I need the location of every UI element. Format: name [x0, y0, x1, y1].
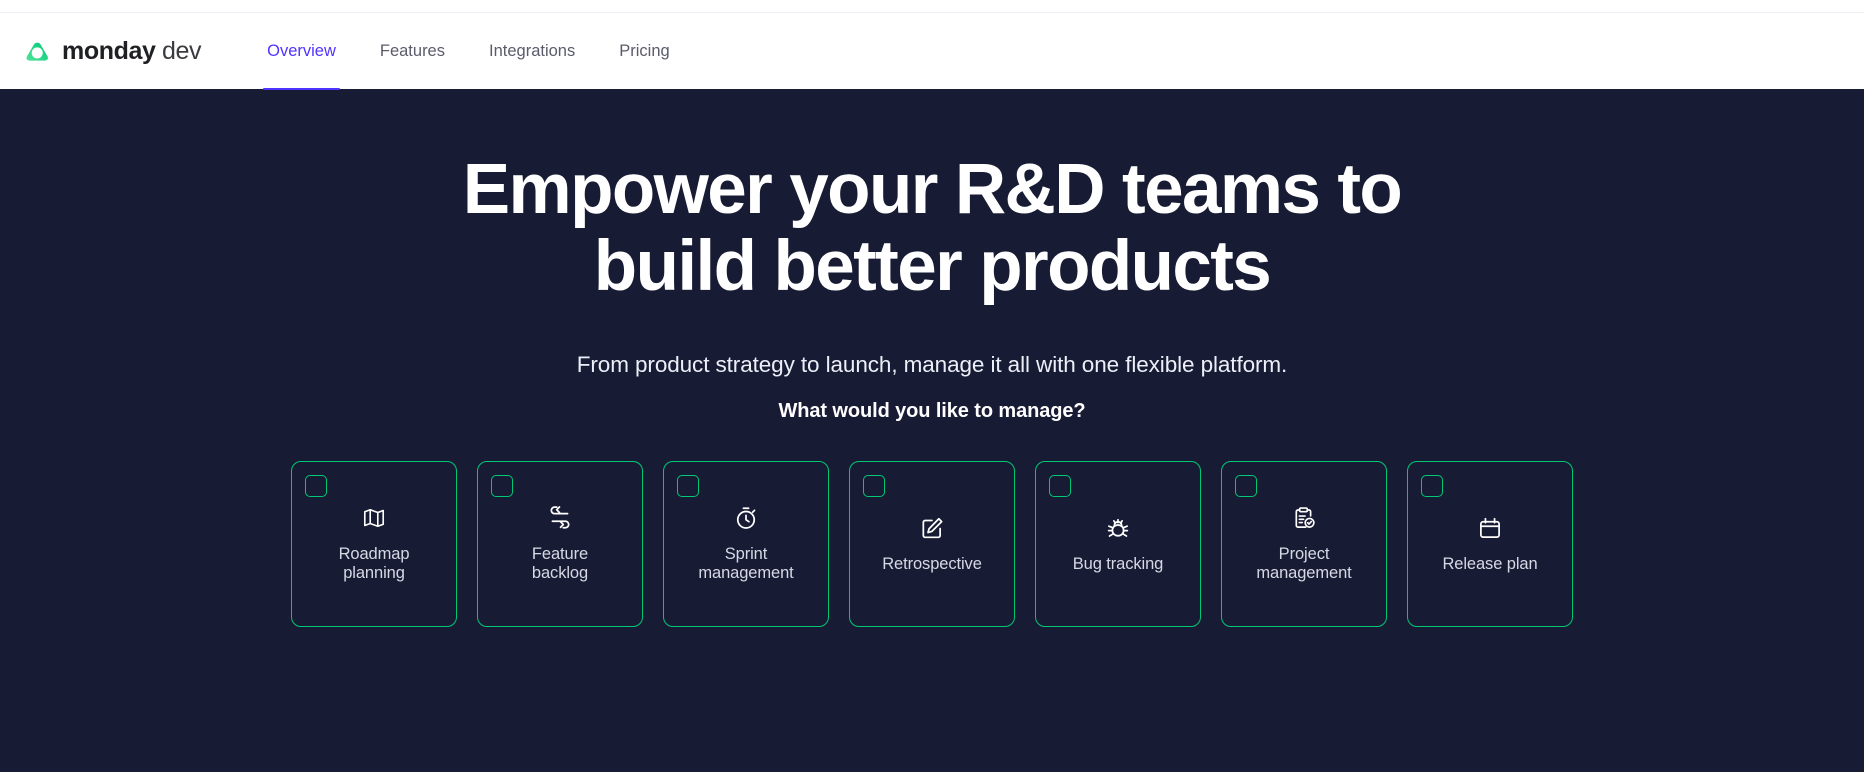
card-label: Retrospective — [882, 555, 982, 574]
bug-icon — [1105, 515, 1131, 541]
map-icon — [361, 505, 387, 531]
card-label: Project management — [1256, 545, 1351, 584]
card-retrospective[interactable]: Retrospective — [849, 461, 1015, 627]
card-feature-backlog[interactable]: Feature backlog — [477, 461, 643, 627]
note-edit-icon — [919, 515, 945, 541]
browser-top-strip — [0, 0, 1864, 13]
card-project-management[interactable]: Project management — [1221, 461, 1387, 627]
hero-subtitle: From product strategy to launch, manage … — [577, 352, 1287, 378]
card-sprint-management[interactable]: Sprint management — [663, 461, 829, 627]
card-checkbox[interactable] — [863, 475, 885, 497]
site-header: monday dev OverviewFeaturesIntegrationsP… — [0, 13, 1864, 89]
card-checkbox[interactable] — [1235, 475, 1257, 497]
exchange-arrows-icon — [547, 505, 573, 531]
brand-name-bold: monday — [62, 37, 155, 65]
card-checkbox[interactable] — [1049, 475, 1071, 497]
page-title: Empower your R&D teams to build better p… — [452, 152, 1412, 305]
brand-name: monday dev — [62, 39, 201, 64]
card-label: Release plan — [1442, 555, 1537, 574]
card-label: Bug tracking — [1073, 555, 1164, 574]
card-roadmap-planning[interactable]: Roadmap planning — [291, 461, 457, 627]
card-label: Sprint management — [698, 545, 793, 584]
card-bug-tracking[interactable]: Bug tracking — [1035, 461, 1201, 627]
stopwatch-icon — [733, 505, 759, 531]
card-label: Roadmap planning — [339, 545, 410, 584]
nav-item-overview[interactable]: Overview — [245, 13, 358, 89]
card-checkbox[interactable] — [677, 475, 699, 497]
card-checkbox[interactable] — [1421, 475, 1443, 497]
manage-options-list: Roadmap planningFeature backlogSprint ma… — [291, 461, 1573, 627]
card-checkbox[interactable] — [491, 475, 513, 497]
hero-section: Empower your R&D teams to build better p… — [0, 89, 1864, 772]
hero-question: What would you like to manage? — [778, 400, 1085, 423]
nav-item-features[interactable]: Features — [358, 13, 467, 89]
card-label: Feature backlog — [532, 545, 588, 584]
nav-item-integrations[interactable]: Integrations — [467, 13, 597, 89]
calendar-icon — [1477, 515, 1503, 541]
nav-item-pricing[interactable]: Pricing — [597, 13, 691, 89]
main-nav: OverviewFeaturesIntegrationsPricing — [245, 13, 692, 89]
card-release-plan[interactable]: Release plan — [1407, 461, 1573, 627]
clipboard-check-icon — [1291, 505, 1317, 531]
brand-name-product: dev — [162, 37, 201, 65]
monday-logo-icon — [24, 37, 53, 66]
brand-logo-link[interactable]: monday dev — [24, 37, 201, 66]
card-checkbox[interactable] — [305, 475, 327, 497]
